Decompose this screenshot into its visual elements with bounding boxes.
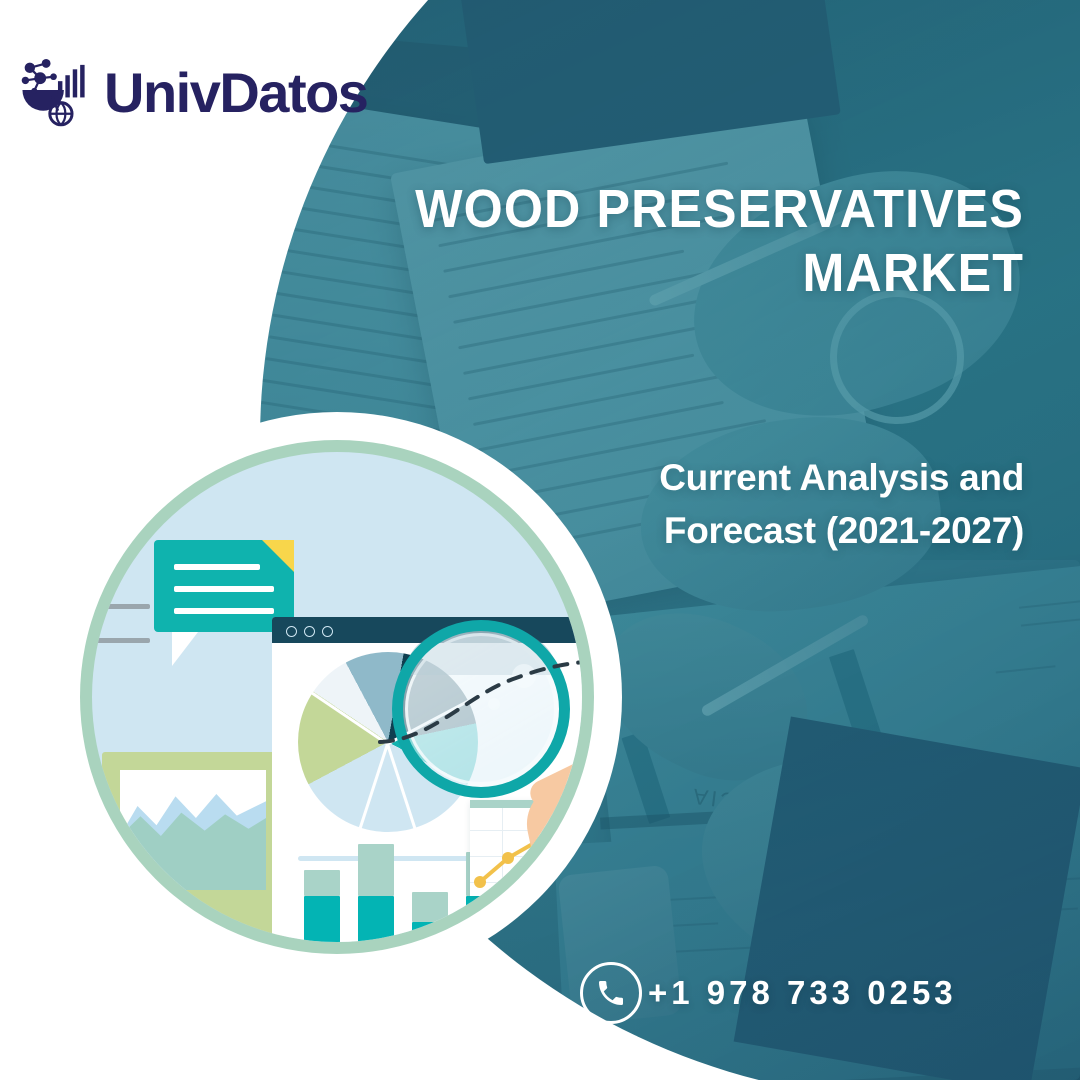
dashed-trend-curve (372, 622, 582, 752)
bar-2-upper (358, 844, 394, 896)
bar-4-lower (466, 896, 502, 942)
browser-dot-1 (286, 626, 297, 637)
brand-name: UnivDatos (104, 65, 367, 121)
browser-dot-3 (322, 626, 333, 637)
deco-line-1 (96, 568, 110, 573)
page-title-line-2: MARKET (351, 242, 1024, 306)
page-title-line-1: WOOD PRESERVATIVES (351, 178, 1024, 242)
page-subtitle-line-1: Current Analysis and (540, 452, 1024, 505)
bar-3-upper (412, 892, 448, 922)
message-card-line-1 (174, 564, 260, 570)
report-text-line-2 (120, 932, 180, 939)
message-card-line-2 (174, 586, 274, 592)
bar-1-lower (304, 896, 340, 942)
brand-logo[interactable]: UnivDatos (18, 56, 367, 130)
page-subtitle: Current Analysis and Forecast (2021-2027… (540, 452, 1024, 557)
page-subtitle-line-2: Forecast (2021-2027) (540, 505, 1024, 558)
deco-line-2 (92, 604, 150, 609)
bar-1-upper (304, 870, 340, 896)
illustration-content (92, 452, 582, 942)
phone-number: +1 978 733 0253 (648, 974, 957, 1012)
message-card-tail (172, 632, 198, 666)
page-title: WOOD PRESERVATIVES MARKET (351, 178, 1024, 305)
phone-handset-glyph (595, 977, 627, 1009)
univdatos-logo-icon (18, 56, 92, 130)
browser-dot-2 (304, 626, 315, 637)
report-text-line-1 (120, 912, 180, 919)
deco-line-3 (92, 638, 150, 643)
contact-block[interactable]: +1 978 733 0253 (580, 962, 957, 1024)
phone-icon (580, 962, 642, 1024)
poster-canvas: FINANCIA (0, 0, 1080, 1080)
message-card-line-3 (174, 608, 274, 614)
bar-3-lower (412, 922, 448, 942)
bar-2-lower (358, 896, 394, 942)
accent-triangle (562, 564, 582, 586)
